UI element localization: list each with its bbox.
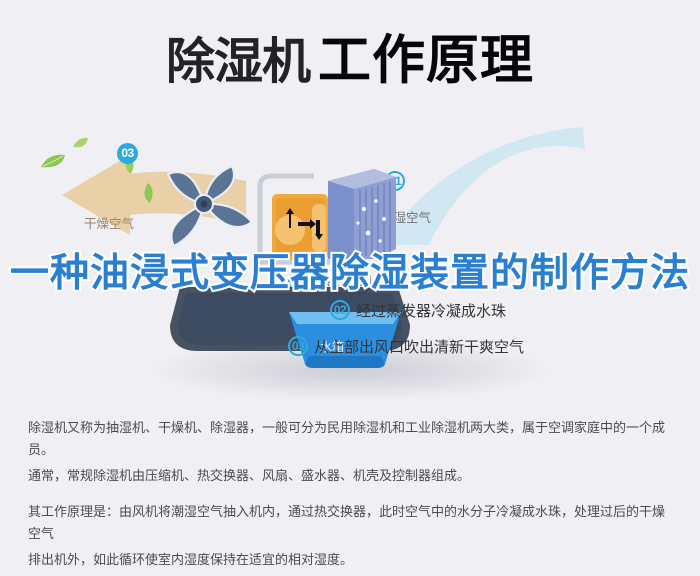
legend-badge-03: 03 <box>288 336 308 356</box>
flow-label-dry-air: 干燥空气 <box>84 213 134 232</box>
page-title-subject: 除湿机 <box>166 33 310 90</box>
legend-label: 从上部出风口吹出清新干爽空气 <box>314 336 524 357</box>
legend-badge-02: 02 <box>330 300 350 320</box>
page-title-predicate: 工作原理 <box>318 30 534 91</box>
evaporator-fins <box>318 163 398 265</box>
page-title: 除湿机工作原理 <box>0 18 700 94</box>
flow-badge-03: 03 <box>117 143 138 164</box>
legend-item: 03从上部出风口吹出清新干爽空气 <box>288 336 524 365</box>
paragraph-2: 通常，常规除湿机由压缩机、热交换器、风扇、盛水器、机壳及控制器组成。 <box>28 466 676 488</box>
legend-item: 02经过蒸发器冷凝成水珠 <box>330 300 506 329</box>
overlay-headline: 一种油浸式变压器除湿装置的制作方法 <box>0 252 700 295</box>
leaf-icon <box>72 137 89 150</box>
paragraph-1: 除湿机又称为抽湿机、干燥机、除湿器，一般可分为民用除湿机和工业除湿机两大类，属于… <box>28 418 676 462</box>
page-root: 除湿机工作原理 03 干燥空气 01 潮湿空 <box>0 0 700 566</box>
paragraph-3: 其工作原理是：由风机将潮湿空气抽入机内，通过热交换器，此时空气中的水分子冷凝成水… <box>28 502 676 546</box>
leaf-icon <box>40 153 66 171</box>
paragraph-4: 排出机外，如此循环使室内湿度保持在适宜的相对湿度。 <box>28 550 676 572</box>
description-body: 除湿机又称为抽湿机、干燥机、除湿器，一般可分为民用除湿机和工业除湿机两大类，属于… <box>28 418 676 576</box>
legend-label: 经过蒸发器冷凝成水珠 <box>356 300 506 321</box>
fan-icon <box>148 158 260 250</box>
